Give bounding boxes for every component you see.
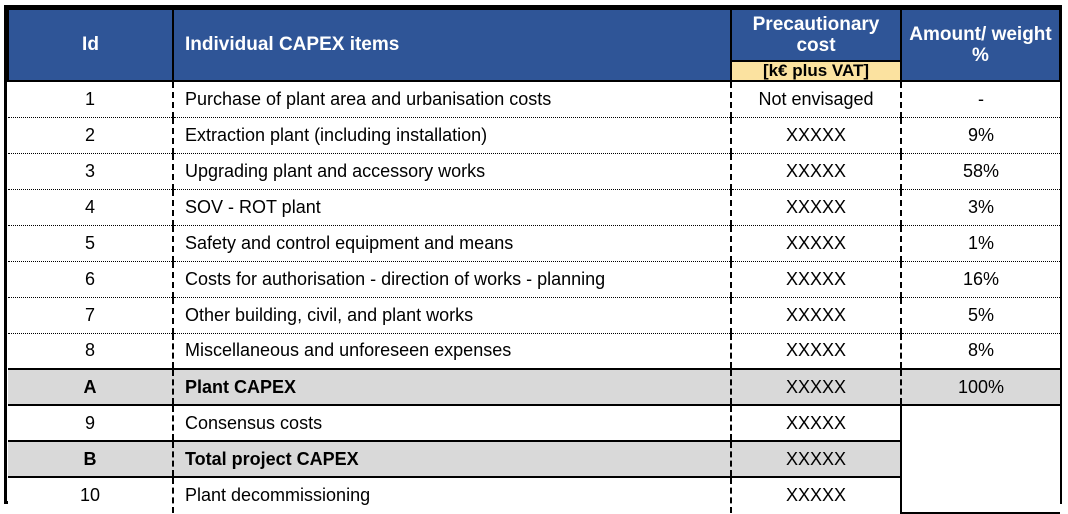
row-weight-value: 1% <box>901 225 1060 261</box>
row-cost-value: XXXXX <box>731 117 901 153</box>
row-cost-value: XXXXX <box>731 477 901 513</box>
amount-weight-line1: Amount/ weight <box>909 24 1051 45</box>
row-weight-value: 3% <box>901 189 1060 225</box>
row-weight-value: 58% <box>901 153 1060 189</box>
row-id: 7 <box>8 297 173 333</box>
row-id: A <box>8 369 173 405</box>
precautionary-cost-title-text: Precautionary cost <box>753 14 880 57</box>
row-id: 6 <box>8 261 173 297</box>
row-id: 4 <box>8 189 173 225</box>
row-item-label: SOV - ROT plant <box>173 189 731 225</box>
row-id: 10 <box>8 477 173 513</box>
row-weight-value: 16% <box>901 261 1060 297</box>
row-cost-value: XXXXX <box>731 297 901 333</box>
row-item-label: Consensus costs <box>173 405 731 441</box>
column-header-individual-capex-items: Individual CAPEX items <box>173 9 731 81</box>
row-cost-value: XXXXX <box>731 369 901 405</box>
amount-weight-line2: % <box>972 45 989 66</box>
row-item-label: Miscellaneous and unforeseen expenses <box>173 333 731 369</box>
precautionary-cost-line2: cost <box>796 35 835 56</box>
precautionary-cost-unit-badge: [k€ plus VAT] <box>732 62 900 80</box>
table-row-subtotal: A Plant CAPEX XXXXX 100% <box>8 369 1060 405</box>
row-item-label: Upgrading plant and accessory works <box>173 153 731 189</box>
row-item-label: Plant decommissioning <box>173 477 731 513</box>
row-item-label: Safety and control equipment and means <box>173 225 731 261</box>
table-header-row: Id Individual CAPEX items Precautionary … <box>8 9 1060 81</box>
table-row: 1 Purchase of plant area and urbanisatio… <box>8 81 1060 117</box>
row-id: 5 <box>8 225 173 261</box>
table-row: 9 Consensus costs XXXXX <box>8 405 1060 441</box>
row-id: 9 <box>8 405 173 441</box>
row-item-label: Extraction plant (including installation… <box>173 117 731 153</box>
row-cost-value: XXXXX <box>731 225 901 261</box>
table-body: 1 Purchase of plant area and urbanisatio… <box>8 81 1060 513</box>
row-cost-value: XXXXX <box>731 405 901 441</box>
row-weight-value: 9% <box>901 117 1060 153</box>
precautionary-cost-title: Precautionary cost <box>732 10 900 62</box>
row-cost-value: XXXXX <box>731 441 901 477</box>
row-weight-value: 8% <box>901 333 1060 369</box>
row-weight-value: - <box>901 81 1060 117</box>
table-row: 2 Extraction plant (including installati… <box>8 117 1060 153</box>
empty-weight-cell <box>901 405 1060 513</box>
row-item-label: Costs for authorisation - direction of w… <box>173 261 731 297</box>
precautionary-cost-line1: Precautionary <box>753 14 880 35</box>
row-cost-value: XXXXX <box>731 153 901 189</box>
table-row: 6 Costs for authorisation - direction of… <box>8 261 1060 297</box>
row-id: 8 <box>8 333 173 369</box>
table-row: 7 Other building, civil, and plant works… <box>8 297 1060 333</box>
column-header-precautionary-cost: Precautionary cost [k€ plus VAT] <box>731 9 901 81</box>
table-row: 4 SOV - ROT plant XXXXX 3% <box>8 189 1060 225</box>
row-cost-value: XXXXX <box>731 261 901 297</box>
column-header-amount-weight-percent: Amount/ weight % <box>901 9 1060 81</box>
row-item-label: Purchase of plant area and urbanisation … <box>173 81 731 117</box>
capex-table: Id Individual CAPEX items Precautionary … <box>7 8 1061 514</box>
row-item-label: Other building, civil, and plant works <box>173 297 731 333</box>
row-id: 1 <box>8 81 173 117</box>
row-cost-value: XXXXX <box>731 333 901 369</box>
capex-table-frame: Id Individual CAPEX items Precautionary … <box>4 5 1062 504</box>
column-header-id: Id <box>8 9 173 81</box>
row-weight-value: 100% <box>901 369 1060 405</box>
table-header: Id Individual CAPEX items Precautionary … <box>8 9 1060 81</box>
table-row: 8 Miscellaneous and unforeseen expenses … <box>8 333 1060 369</box>
row-cost-value: XXXXX <box>731 189 901 225</box>
row-item-label: Plant CAPEX <box>173 369 731 405</box>
table-row: 3 Upgrading plant and accessory works XX… <box>8 153 1060 189</box>
row-item-label: Total project CAPEX <box>173 441 731 477</box>
row-id: 2 <box>8 117 173 153</box>
row-id: 3 <box>8 153 173 189</box>
table-row: 5 Safety and control equipment and means… <box>8 225 1060 261</box>
row-id: B <box>8 441 173 477</box>
row-weight-value: 5% <box>901 297 1060 333</box>
row-cost-value: Not envisaged <box>731 81 901 117</box>
